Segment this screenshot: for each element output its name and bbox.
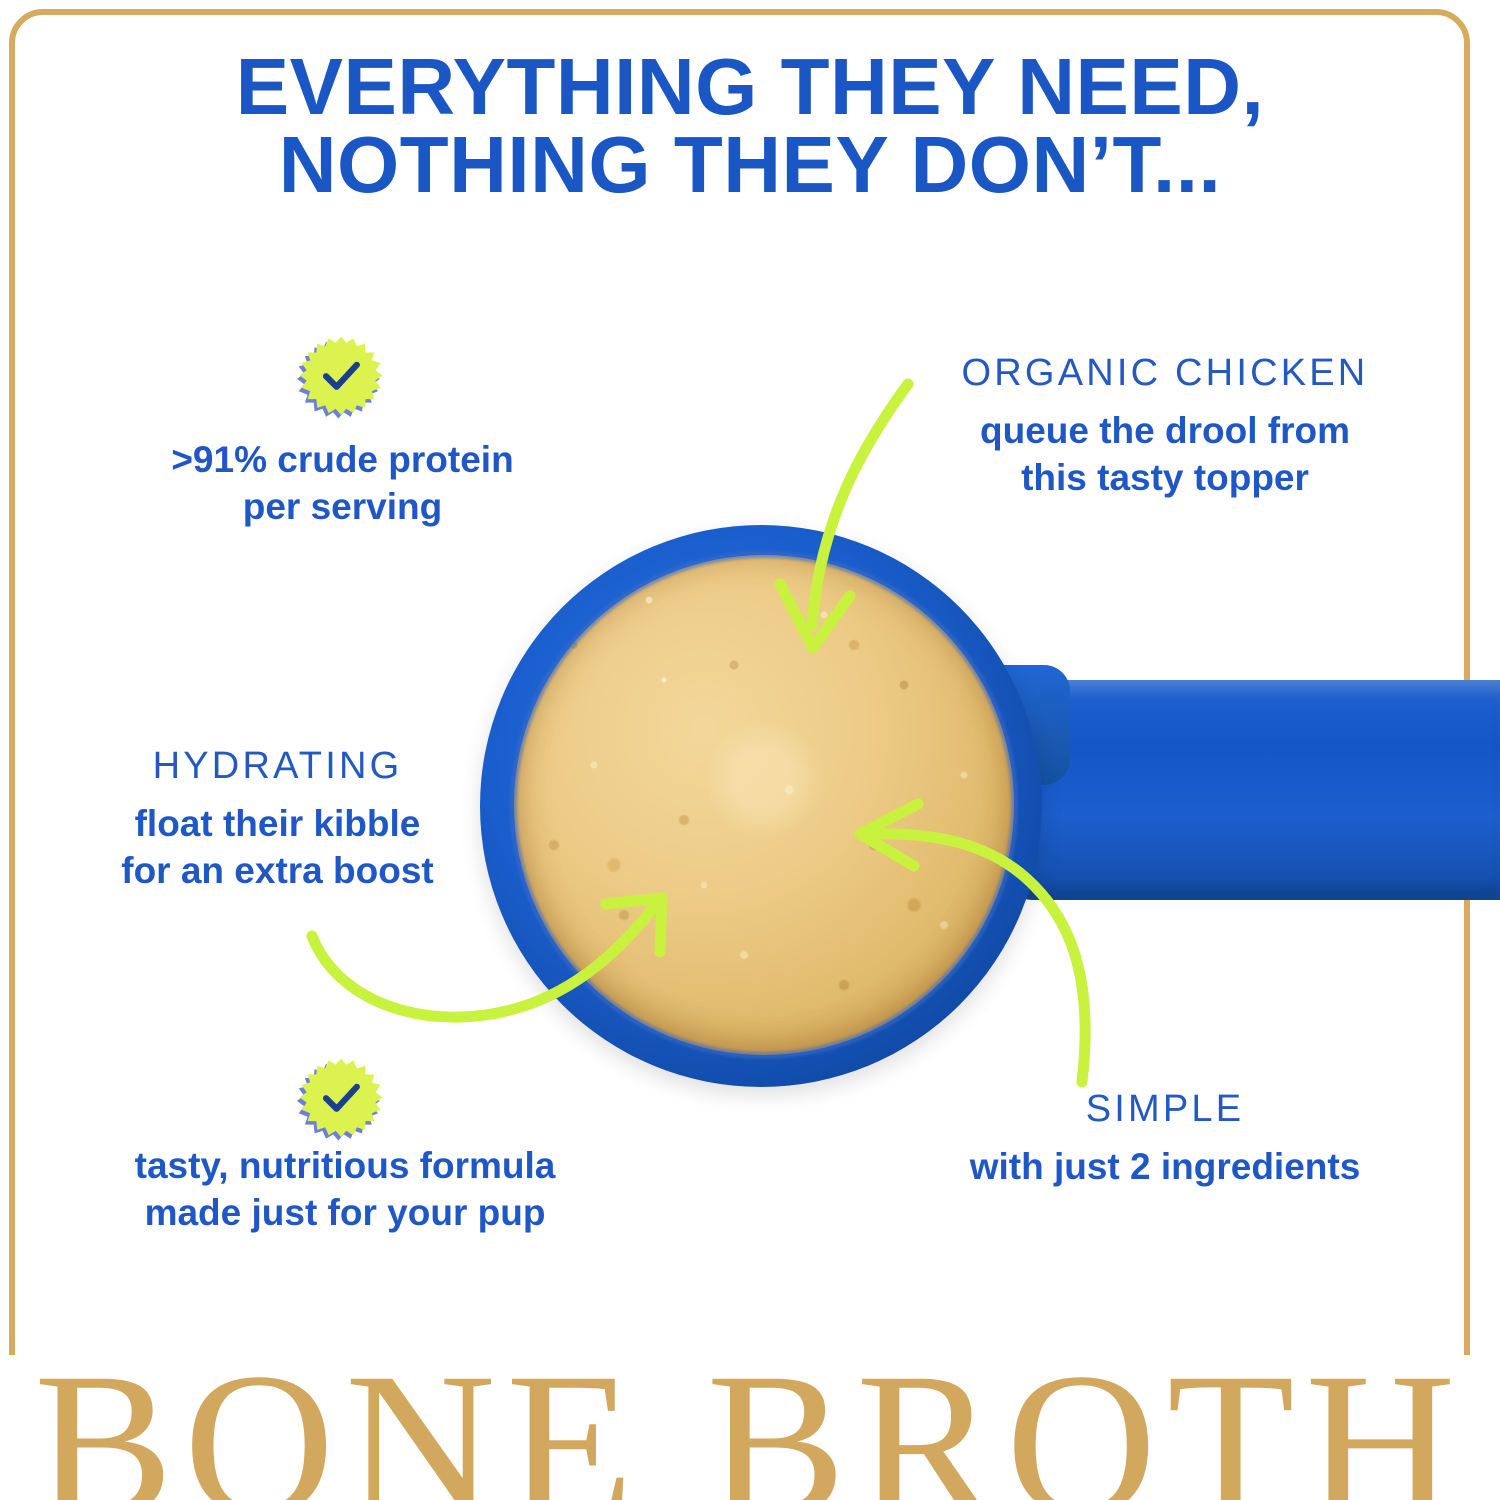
feature-body-line-1: with just 2 ingredients xyxy=(915,1143,1415,1190)
check-badge-icon xyxy=(297,334,385,422)
feature-organic-chicken: ORGANIC CHICKEN queue the drool from thi… xyxy=(905,352,1425,501)
headline-line-1: EVERYTHING THEY NEED, xyxy=(0,48,1500,126)
feature-body-line-1: tasty, nutritious formula xyxy=(55,1142,635,1189)
feature-body-line-2: per serving xyxy=(70,483,615,530)
badge-starburst xyxy=(300,1059,383,1137)
feature-body-line-2: for an extra boost xyxy=(35,847,520,894)
check-badge-svg xyxy=(297,334,385,422)
feature-hydrating: HYDRATING float their kibble for an extr… xyxy=(35,745,520,894)
feature-body: with just 2 ingredients xyxy=(915,1143,1415,1190)
feature-body-line-2: made just for your pup xyxy=(55,1189,635,1236)
product-photo-scoop: nativepe xyxy=(470,515,1500,1095)
feature-body: tasty, nutritious formula made just for … xyxy=(55,1142,635,1237)
check-badge-svg xyxy=(297,1056,385,1144)
page-title: EVERYTHING THEY NEED, NOTHING THEY DON’T… xyxy=(0,48,1500,205)
badge-starburst xyxy=(300,337,383,415)
feature-simple: SIMPLE with just 2 ingredients xyxy=(915,1088,1415,1190)
feature-body-line-1: float their kibble xyxy=(35,800,520,847)
feature-tasty-formula: tasty, nutritious formula made just for … xyxy=(55,1142,635,1237)
scoop-handle: nativepe xyxy=(1010,680,1500,900)
feature-body-line-1: queue the drool from xyxy=(905,407,1425,454)
feature-crude-protein: >91% crude protein per serving xyxy=(70,436,615,531)
feature-body-line-1: >91% crude protein xyxy=(70,436,615,483)
feature-body: queue the drool from this tasty topper xyxy=(905,407,1425,502)
feature-body: float their kibble for an extra boost xyxy=(35,800,520,895)
feature-heading: ORGANIC CHICKEN xyxy=(905,352,1425,395)
feature-body-line-2: this tasty topper xyxy=(905,454,1425,501)
scoop-rim xyxy=(510,551,1018,1059)
headline-line-2: NOTHING THEY DON’T... xyxy=(0,126,1500,204)
scoop-bowl xyxy=(480,525,1042,1087)
feature-heading: SIMPLE xyxy=(915,1088,1415,1131)
product-wordmark: BONE BROTH xyxy=(0,1352,1500,1500)
infographic-page: EVERYTHING THEY NEED, NOTHING THEY DON’T… xyxy=(0,0,1500,1500)
check-badge-icon xyxy=(297,1056,385,1144)
feature-heading: HYDRATING xyxy=(35,745,520,788)
feature-body: >91% crude protein per serving xyxy=(70,436,615,531)
